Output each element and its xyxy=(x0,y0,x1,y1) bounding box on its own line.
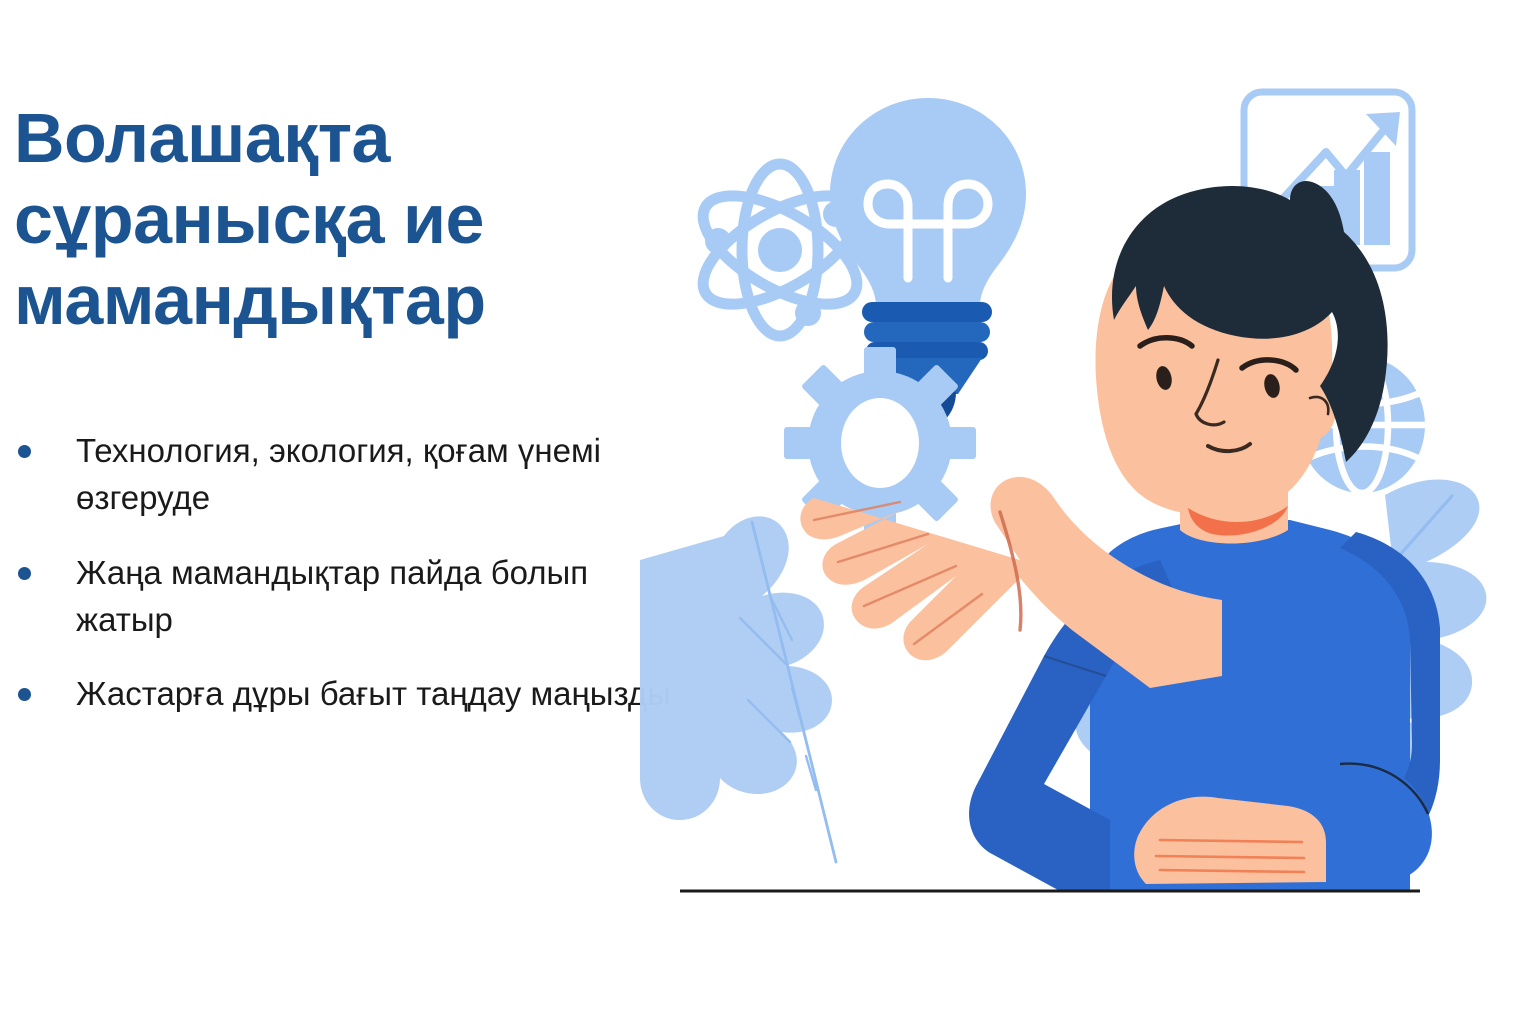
chart-bar xyxy=(1364,152,1390,245)
list-item-label: Технология, экология, қоғам үнемі өзгеру… xyxy=(76,428,690,522)
list-item-label: Жастарға дұры бағыт таңдау маңызды xyxy=(76,671,690,718)
list-item-label: Жаңа мамандықтар пайда болып жатыр xyxy=(76,550,690,644)
bullet-list: Технология, экология, қоғам үнемі өзгеру… xyxy=(0,428,690,746)
oak-leaf-left-icon xyxy=(640,516,836,862)
illustration-panel xyxy=(640,0,1536,1024)
bullet-dot-icon xyxy=(18,567,31,580)
text-panel: Волашақта сұранысқа ие мамандықтар Техно… xyxy=(0,0,690,1024)
bullet-dot-icon xyxy=(18,445,31,458)
slide-canvas: Волашақта сұранысқа ие мамандықтар Техно… xyxy=(0,0,1536,1024)
list-item: Жаңа мамандықтар пайда болып жатыр xyxy=(0,550,690,644)
list-item: Технология, экология, қоғам үнемі өзгеру… xyxy=(0,428,690,522)
bullet-dot-icon xyxy=(18,688,31,701)
list-item: Жастарға дұры бағыт таңдау маңызды xyxy=(0,671,690,718)
page-title: Волашақта сұранысқа ие мамандықтар xyxy=(14,98,634,342)
